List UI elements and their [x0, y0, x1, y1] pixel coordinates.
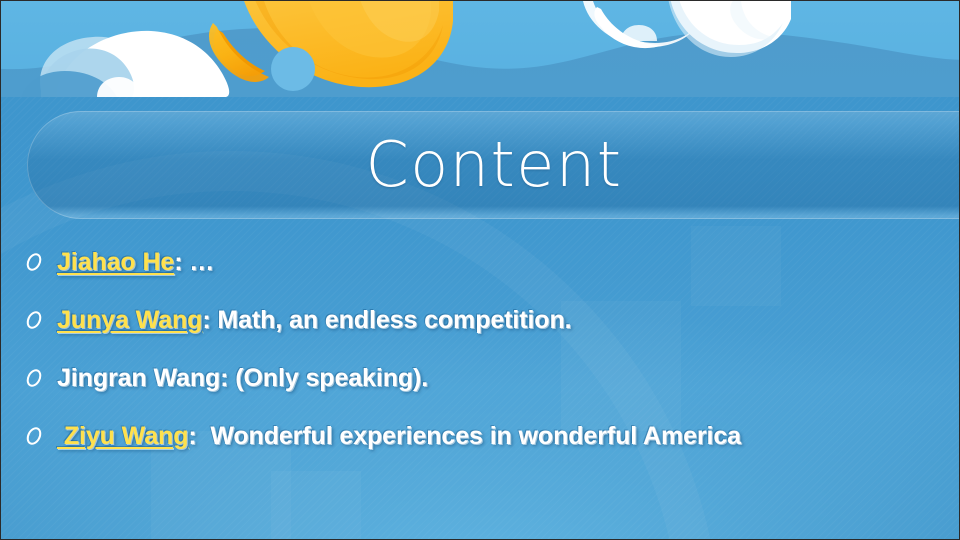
list-item[interactable]: Jiahao He: …	[1, 233, 960, 291]
presentation-slide: Content Jiahao He: … Junya Wang: Math, a…	[0, 0, 960, 540]
list-item[interactable]: Junya Wang: Math, an endless competition…	[1, 291, 960, 349]
slanted-ring-bullet-icon	[23, 251, 45, 273]
title-bar: Content	[27, 111, 960, 219]
slanted-ring-bullet-icon	[23, 367, 45, 389]
list-item-rest: : Wonderful experiences in wonderful Ame…	[188, 422, 741, 450]
list-item-rest: : (Only speaking).	[220, 364, 428, 392]
list-item-name: Jingran Wang	[57, 364, 220, 392]
list-item[interactable]: Ziyu Wang: Wonderful experiences in wond…	[1, 407, 960, 465]
content-bullet-list: Jiahao He: … Junya Wang: Math, an endles…	[1, 233, 960, 465]
list-item-text: Junya Wang: Math, an endless competition…	[57, 306, 572, 335]
list-item-text: Ziyu Wang: Wonderful experiences in wond…	[57, 422, 741, 451]
list-item-name: Ziyu Wang	[57, 422, 188, 450]
list-item-text: Jingran Wang: (Only speaking).	[57, 364, 428, 393]
list-item-name: Jiahao He	[57, 248, 174, 276]
header-decoration-band	[1, 1, 960, 97]
list-item-rest: : …	[174, 248, 214, 276]
list-item[interactable]: Jingran Wang: (Only speaking).	[1, 349, 960, 407]
slanted-ring-bullet-icon	[23, 425, 45, 447]
list-item-rest: : Math, an endless competition.	[202, 306, 571, 334]
slanted-ring-bullet-icon	[23, 309, 45, 331]
list-item-text: Jiahao He: …	[57, 248, 214, 277]
page-title: Content	[27, 111, 960, 219]
list-item-name: Junya Wang	[57, 306, 202, 334]
